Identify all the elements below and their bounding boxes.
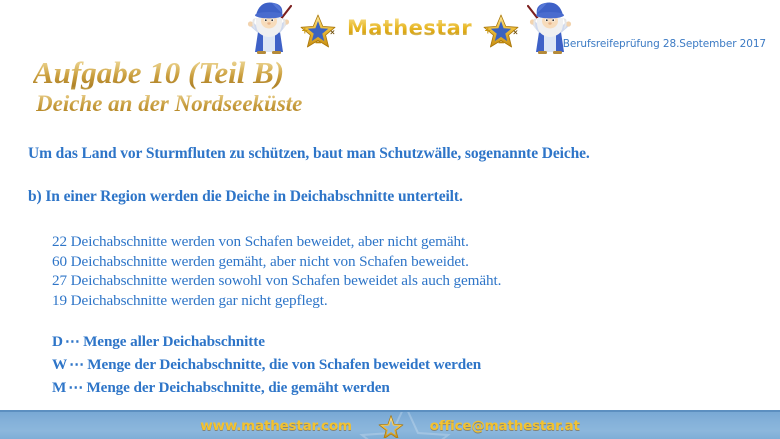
- list-item: D⋯Menge aller Deichabschnitte: [52, 330, 481, 353]
- list-item: M⋯Menge der Deichabschnitte, die gemäht …: [52, 376, 481, 399]
- set-description: Menge der Deichabschnitte, die gemäht we…: [86, 379, 389, 396]
- svg-text:×: ×: [512, 29, 518, 37]
- list-item: 22 Deichabschnitte werden von Schafen be…: [52, 232, 501, 252]
- brand-wordmark: Mathestar: [344, 18, 475, 39]
- dots-separator: ⋯: [63, 333, 83, 350]
- list-item: 19 Deichabschnitte werden gar nicht gepf…: [52, 291, 501, 311]
- svg-text:+: +: [484, 27, 491, 37]
- footer-email-link[interactable]: office@mathestar.at: [430, 418, 580, 434]
- set-symbol: W: [52, 356, 67, 373]
- footer-website-link[interactable]: www.mathestar.com: [200, 418, 351, 434]
- exam-date-label: Berufsreifeprüfung 28.September 2017: [563, 38, 766, 50]
- wizard-icon: [246, 2, 292, 54]
- footer-bar: www.mathestar.com office@mathestar.at: [0, 410, 780, 439]
- svg-text:+: +: [301, 27, 308, 37]
- page-subtitle: Deiche an der Nordseeküste: [36, 92, 302, 116]
- page-title: Aufgabe 10 (Teil B): [33, 57, 284, 90]
- set-description: Menge der Deichabschnitte, die von Schaf…: [87, 356, 481, 373]
- brand-logo-group: + × Mathestar + ×: [246, 2, 573, 54]
- facts-list: 22 Deichabschnitte werden von Schafen be…: [52, 232, 501, 310]
- slide-page: + × Mathestar + ×: [0, 0, 780, 439]
- set-symbol: D: [52, 333, 63, 350]
- part-b-paragraph: b) In einer Region werden die Deiche in …: [28, 188, 463, 206]
- list-item: 27 Deichabschnitte werden sowohl von Sch…: [52, 271, 501, 291]
- footer-content: www.mathestar.com office@mathestar.at: [0, 412, 780, 439]
- math-star-icon: + ×: [296, 8, 340, 48]
- list-item: 60 Deichabschnitte werden gemäht, aber n…: [52, 252, 501, 272]
- set-description: Menge aller Deichabschnitte: [83, 333, 265, 350]
- svg-text:×: ×: [330, 29, 336, 37]
- definitions-list: D⋯Menge aller Deichabschnitte W⋯Menge de…: [52, 330, 481, 399]
- dots-separator: ⋯: [67, 356, 87, 373]
- math-star-icon: + ×: [479, 8, 523, 48]
- set-symbol: M: [52, 379, 66, 396]
- dots-separator: ⋯: [66, 379, 86, 396]
- math-star-icon: [378, 414, 404, 438]
- intro-paragraph: Um das Land vor Sturmfluten zu schützen,…: [28, 145, 590, 163]
- list-item: W⋯Menge der Deichabschnitte, die von Sch…: [52, 353, 481, 376]
- header-logo-band: + × Mathestar + ×: [0, 0, 780, 56]
